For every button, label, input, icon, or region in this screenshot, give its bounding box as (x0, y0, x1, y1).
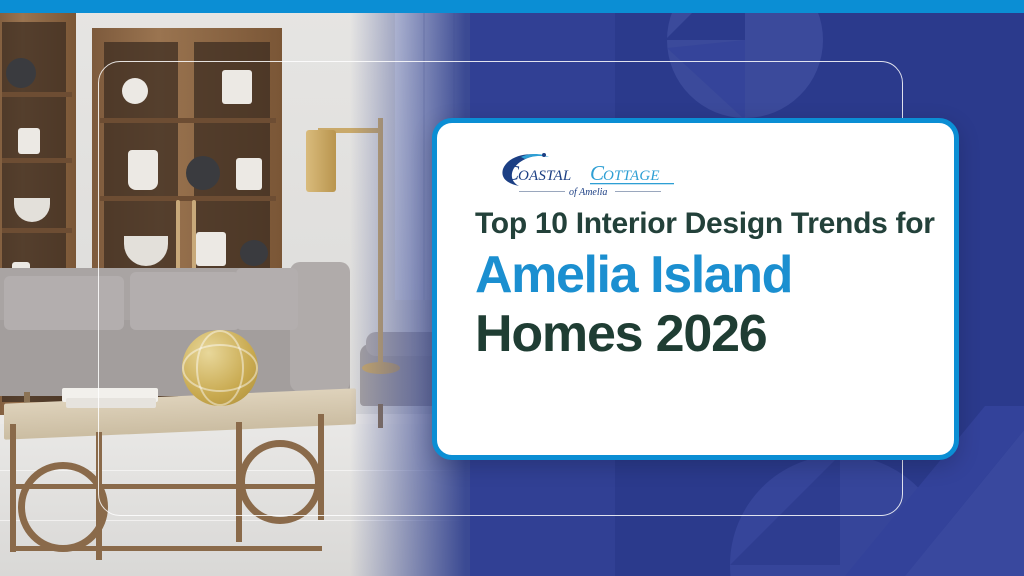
content-card: C OASTAL C OTTAGE of Amelia Top 10 Inter… (432, 118, 959, 460)
brand-logo: C OASTAL C OTTAGE of Amelia (497, 149, 683, 197)
svg-text:OTTAGE: OTTAGE (603, 168, 660, 184)
banner-canvas: C OASTAL C OTTAGE of Amelia Top 10 Inter… (0, 0, 1024, 576)
headline-line-2: Amelia Island (475, 247, 924, 304)
headline-line-1: Top 10 Interior Design Trends for (475, 207, 924, 241)
top-accent-strip (0, 0, 1024, 13)
svg-text:OASTAL: OASTAL (518, 168, 571, 184)
headline-block: Top 10 Interior Design Trends for Amelia… (475, 207, 924, 363)
headline-line-3: Homes 2026 (475, 306, 924, 363)
svg-text:of Amelia: of Amelia (569, 187, 607, 197)
